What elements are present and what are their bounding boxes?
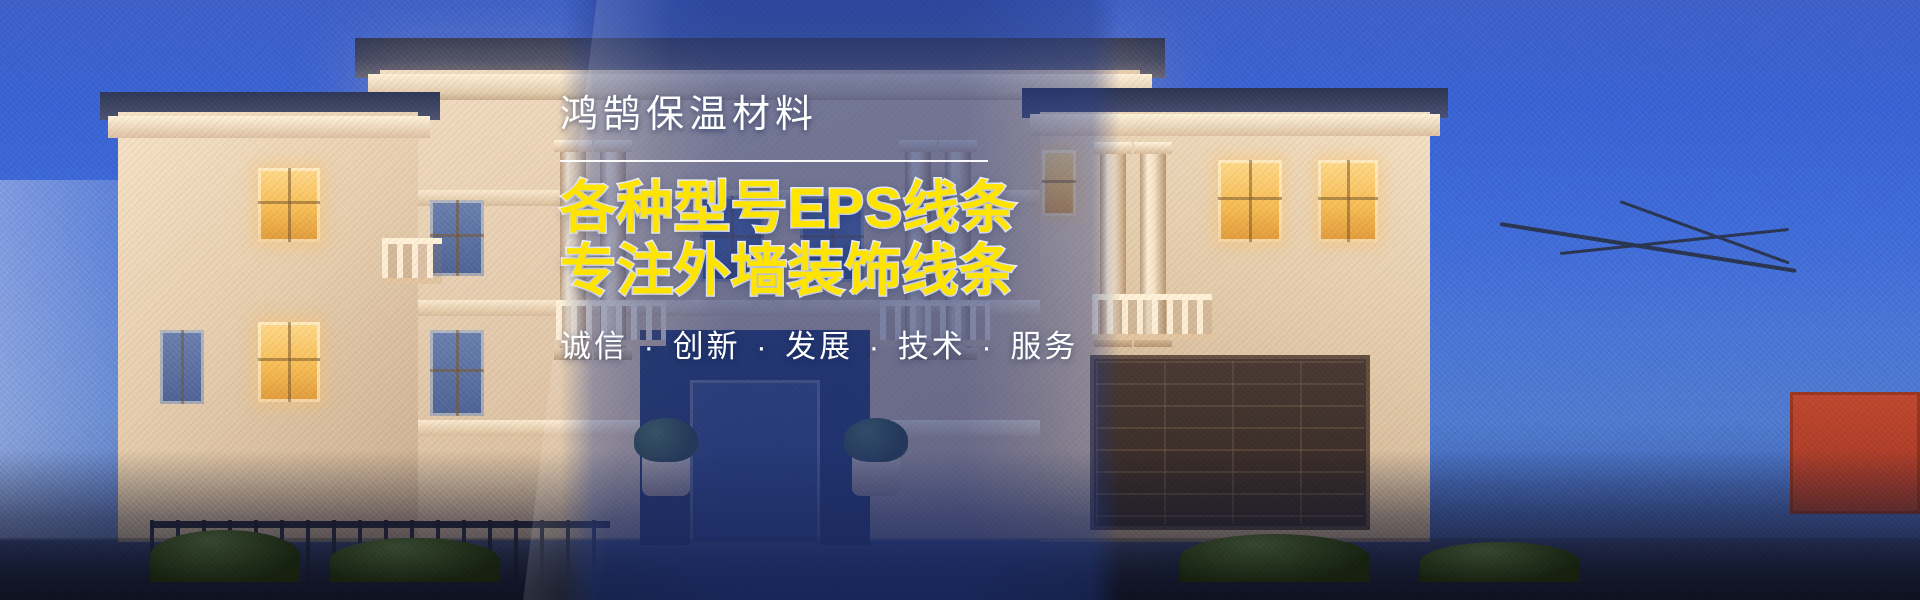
promo-banner: 鸿鹄保温材料 各种型号EPS线条 专注外墙装饰线条 诚信 · 创新 · 发展 ·…: [0, 0, 1920, 600]
tagline-item-1: 创新: [673, 329, 741, 364]
hedge-bush: [150, 530, 300, 582]
banner-content: 鸿鹄保温材料 各种型号EPS线条 专注外墙装饰线条 诚信 · 创新 · 发展 ·…: [560, 96, 1030, 362]
tagline-item-0: 诚信: [560, 329, 628, 364]
headline-line-2: 专注外墙装饰线条: [560, 241, 1030, 300]
tagline-item-4: 服务: [1010, 329, 1078, 364]
lit-window: [258, 322, 320, 402]
lit-window: [1318, 160, 1378, 242]
window: [160, 330, 204, 404]
window: [430, 330, 484, 416]
divider-rule: [560, 160, 988, 162]
lit-window: [258, 168, 320, 242]
balustrade: [1092, 294, 1212, 340]
tagline-item-3: 技术: [898, 329, 966, 364]
tagline-item-2: 发展: [785, 329, 853, 364]
hedge-bush: [1420, 542, 1580, 582]
brand-name: 鸿鹄保温材料: [560, 96, 1030, 134]
tagline-separator: ·: [869, 329, 882, 364]
tagline-separator: ·: [981, 329, 994, 364]
hedge-bush: [1180, 534, 1370, 582]
headline-line-1: 各种型号EPS线条: [560, 178, 1030, 237]
headline: 各种型号EPS线条 专注外墙装饰线条: [560, 178, 1030, 301]
balustrade: [382, 238, 442, 284]
tagline-separator: ·: [756, 329, 769, 364]
tagline: 诚信 · 创新 · 发展 · 技术 · 服务: [560, 331, 1030, 362]
tagline-separator: ·: [644, 329, 657, 364]
lit-window: [1042, 150, 1076, 216]
left-wing-cornice: [108, 116, 430, 138]
right-wing-cornice: [1030, 114, 1440, 136]
lit-window: [1218, 160, 1282, 242]
hedge-bush: [330, 538, 500, 582]
